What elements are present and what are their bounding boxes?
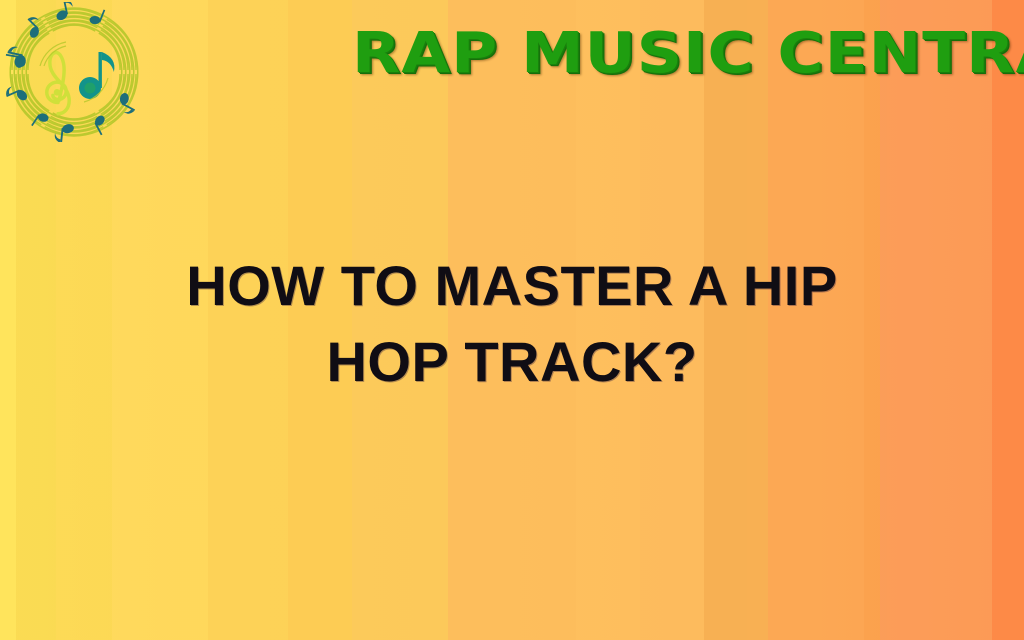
site-title: RAP MUSIC CENTRAL	[352, 22, 1024, 86]
headline-line-1: HOW TO MASTER A HIP	[0, 248, 1024, 324]
headline-line-2: HOP TRACK?	[0, 324, 1024, 400]
page-title: HOW TO MASTER A HIP HOP TRACK?	[0, 248, 1024, 400]
music-notes-circle-logo	[4, 2, 144, 142]
banner-card: RAP MUSIC CENTRAL HOW TO MASTER A HIP HO…	[0, 0, 1024, 640]
